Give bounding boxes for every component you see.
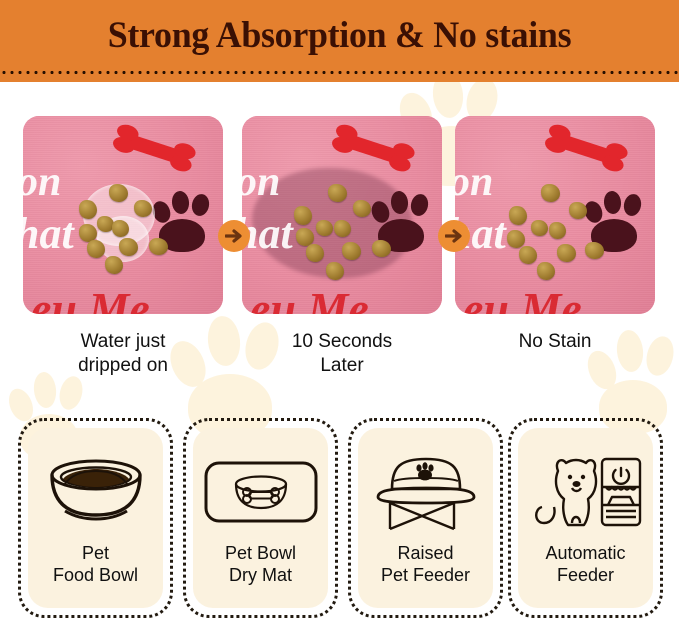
kibble	[328, 184, 347, 202]
kibble	[112, 220, 129, 237]
card-label-line: Pet Bowl	[225, 542, 296, 564]
kibble	[537, 262, 555, 280]
use-case-card-automatic-feeder[interactable]: Automatic Feeder	[508, 418, 663, 618]
no-stain-photo: on hat eu Me	[455, 116, 655, 314]
card-label: Raised Pet Feeder	[381, 542, 470, 586]
caption-no-stain: No Stain	[455, 330, 655, 354]
mat-text: on	[242, 158, 280, 206]
card-label-line: Dry Mat	[225, 564, 296, 586]
kibble	[549, 222, 566, 239]
kibble	[316, 220, 333, 236]
card-label-line: Pet	[53, 542, 138, 564]
header-dotted-divider	[0, 70, 679, 75]
caption-line: Later	[242, 354, 442, 378]
kibble	[372, 240, 391, 257]
card-label: Automatic Feeder	[545, 542, 625, 586]
kibble	[119, 238, 138, 256]
absorption-demo-photos: on hat eu Me on	[0, 116, 679, 316]
kibble	[109, 184, 128, 202]
kibble	[557, 244, 576, 262]
kibble	[79, 200, 97, 219]
kibble	[149, 238, 168, 255]
kibble	[531, 220, 548, 236]
mat-text: hat	[23, 208, 74, 259]
kibble	[507, 230, 525, 248]
kibble	[306, 244, 324, 262]
card-label-line: Automatic	[545, 542, 625, 564]
infographic-page: Strong Absorption & No stains on hat eu …	[0, 0, 679, 630]
use-case-card-pet-bowl-dry-mat[interactable]: Pet Bowl Dry Mat	[183, 418, 338, 618]
photo-captions: Water just dripped on 10 Seconds Later N…	[0, 330, 679, 390]
kibble	[334, 220, 351, 237]
caption-ten-seconds: 10 Seconds Later	[242, 330, 442, 378]
kibble	[105, 256, 123, 274]
automatic-feeder-icon	[528, 446, 644, 538]
pet-food-bowl-icon	[42, 446, 150, 538]
water-dripped-photo: on hat eu Me	[23, 116, 223, 314]
kibble	[519, 246, 537, 264]
card-label-line: Raised	[381, 542, 470, 564]
mat-text: eu Me	[250, 282, 369, 314]
kibble	[87, 240, 105, 258]
kibble	[585, 242, 604, 259]
pet-bowl-dry-mat-icon	[203, 446, 319, 538]
use-case-card-raised-pet-feeder[interactable]: Raised Pet Feeder	[348, 418, 503, 618]
header-banner: Strong Absorption & No stains	[0, 0, 679, 82]
arrow-right-icon	[218, 220, 250, 252]
kibble	[342, 242, 361, 260]
kibble	[569, 202, 587, 219]
mat-text: eu Me	[463, 282, 582, 314]
card-label-line: Food Bowl	[53, 564, 138, 586]
mat-text: on	[23, 158, 61, 206]
kibble	[134, 200, 152, 217]
ten-seconds-later-photo: on hat eu Me	[242, 116, 442, 314]
mat-text: on	[455, 158, 493, 206]
kibble	[326, 262, 344, 280]
kibble	[353, 200, 371, 217]
card-label-line: Feeder	[545, 564, 625, 586]
caption-line: No Stain	[455, 330, 655, 354]
raised-pet-feeder-icon	[370, 446, 482, 538]
kibble	[509, 206, 527, 225]
card-label: Pet Bowl Dry Mat	[225, 542, 296, 586]
mat-text: eu Me	[31, 282, 150, 314]
caption-line: dripped on	[23, 354, 223, 378]
caption-line: Water just	[23, 330, 223, 354]
caption-line: 10 Seconds	[242, 330, 442, 354]
arrow-right-icon	[438, 220, 470, 252]
kibble	[541, 184, 560, 202]
use-case-card-pet-food-bowl[interactable]: Pet Food Bowl	[18, 418, 173, 618]
caption-water-dripped: Water just dripped on	[23, 330, 223, 378]
kibble	[294, 206, 312, 225]
use-case-cards: Pet Food Bowl	[0, 418, 679, 623]
page-title: Strong Absorption & No stains	[10, 14, 669, 57]
card-label: Pet Food Bowl	[53, 542, 138, 586]
card-label-line: Pet Feeder	[381, 564, 470, 586]
